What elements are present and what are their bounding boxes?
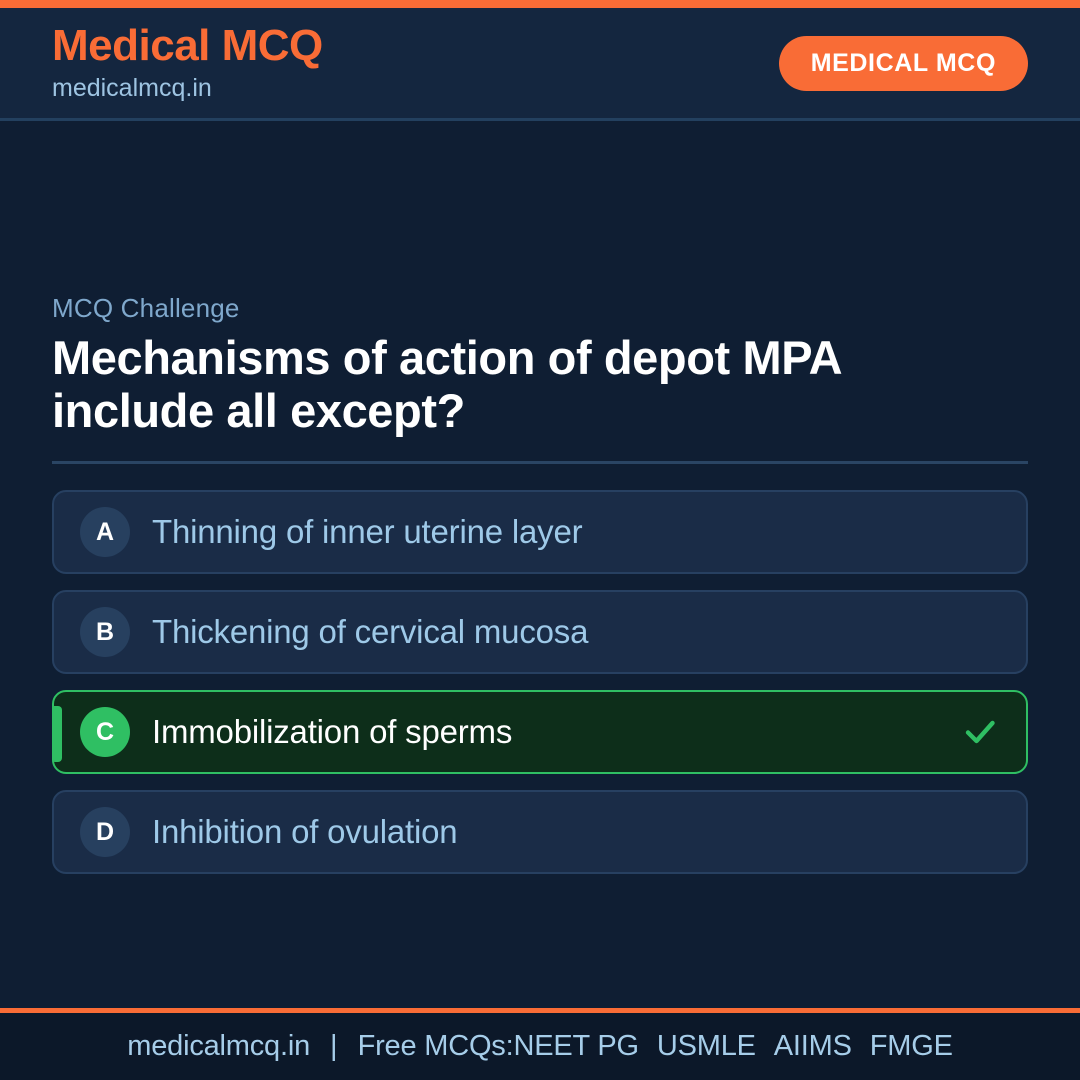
- footer-separator: |: [310, 1030, 358, 1063]
- brand-block: Medical MCQ medicalmcq.in: [52, 23, 323, 102]
- footer-exam-list: NEET PG USMLE AIIMS FMGE: [513, 1030, 952, 1063]
- footer: medicalmcq.in | Free MCQs: NEET PG USMLE…: [0, 1013, 1080, 1080]
- header: Medical MCQ medicalmcq.in MEDICAL MCQ: [0, 8, 1080, 121]
- option-d-letter: D: [80, 807, 130, 857]
- options-list: A Thinning of inner uterine layer B Thic…: [52, 490, 1028, 874]
- top-accent-bar: [0, 0, 1080, 8]
- option-a[interactable]: A Thinning of inner uterine layer: [52, 490, 1028, 574]
- correct-accent-bar: [54, 706, 62, 762]
- main-content: MCQ Challenge Mechanisms of action of de…: [0, 121, 1080, 1008]
- option-a-letter: A: [80, 507, 130, 557]
- brand-title: Medical MCQ: [52, 23, 323, 69]
- footer-exam-fmge: FMGE: [870, 1030, 953, 1063]
- footer-exam-neet-pg: NEET PG: [513, 1030, 638, 1063]
- footer-wrap: medicalmcq.in | Free MCQs: NEET PG USMLE…: [0, 1008, 1080, 1080]
- question-divider: [52, 461, 1028, 464]
- option-b[interactable]: B Thickening of cervical mucosa: [52, 590, 1028, 674]
- option-d-text: Inhibition of ovulation: [152, 813, 1000, 851]
- option-c-letter: C: [80, 707, 130, 757]
- option-c[interactable]: C Immobilization of sperms: [52, 690, 1028, 774]
- check-icon: [960, 712, 1000, 752]
- footer-site[interactable]: medicalmcq.in: [127, 1030, 310, 1063]
- mcq-card: Medical MCQ medicalmcq.in MEDICAL MCQ MC…: [0, 0, 1080, 1080]
- option-b-letter: B: [80, 607, 130, 657]
- question-text: Mechanisms of action of depot MPA includ…: [52, 332, 982, 437]
- option-c-text: Immobilization of sperms: [152, 713, 960, 751]
- option-a-text: Thinning of inner uterine layer: [152, 513, 1000, 551]
- footer-prefix: Free MCQs:: [358, 1030, 514, 1063]
- brand-url: medicalmcq.in: [52, 73, 323, 103]
- option-b-text: Thickening of cervical mucosa: [152, 613, 1000, 651]
- kicker-label: MCQ Challenge: [52, 293, 1028, 324]
- option-d[interactable]: D Inhibition of ovulation: [52, 790, 1028, 874]
- header-badge[interactable]: MEDICAL MCQ: [779, 36, 1028, 91]
- footer-exam-usmle: USMLE: [657, 1030, 756, 1063]
- footer-exam-aiims: AIIMS: [774, 1030, 852, 1063]
